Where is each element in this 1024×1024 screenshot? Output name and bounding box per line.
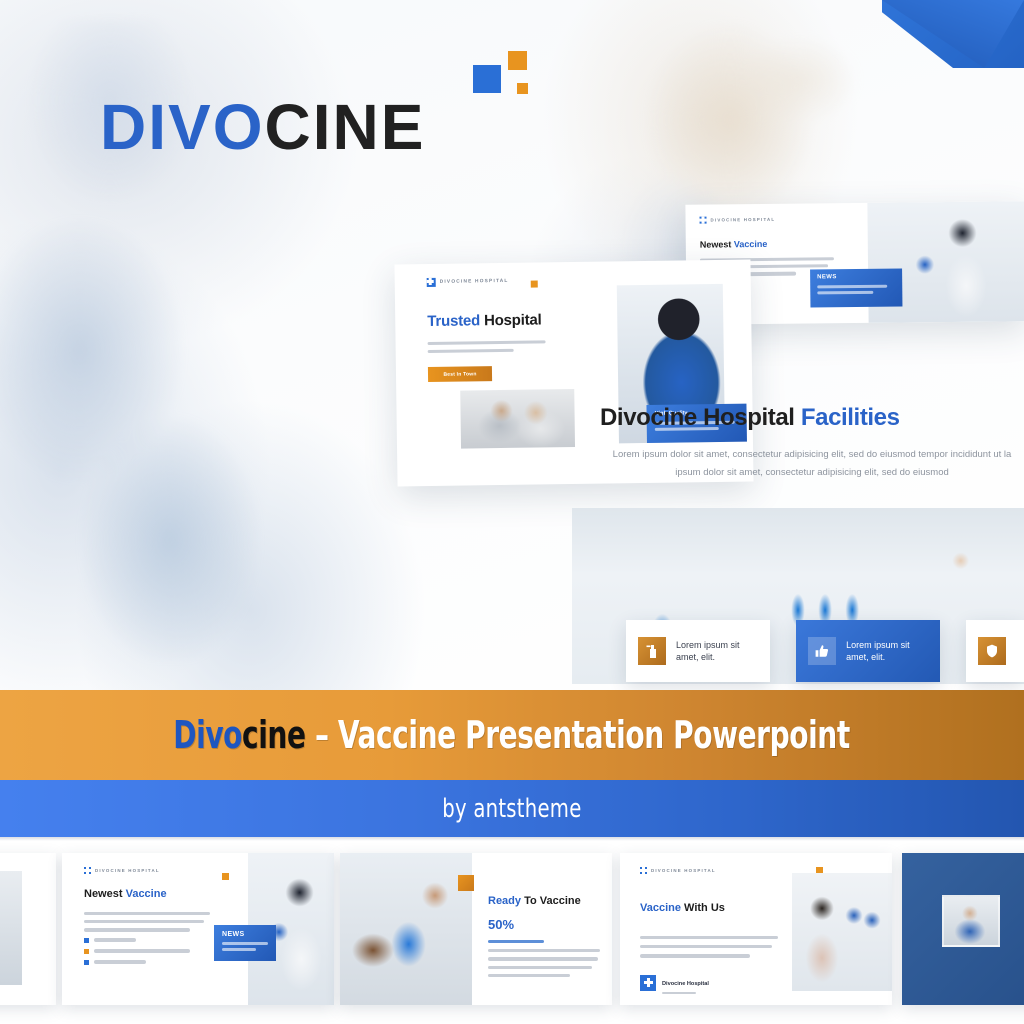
plus-icon-blue	[473, 65, 501, 93]
facilities-section: Divocine Hospital Facilities Lorem ipsum…	[600, 404, 1024, 482]
thumb-body-lines	[488, 940, 604, 977]
plus-icon	[84, 867, 91, 874]
facilities-card-text: Lorem ipsum sit amet, elit.	[846, 639, 928, 663]
thumb-bullet	[84, 938, 214, 943]
slide-brandline: DIVOCINE HOSPITAL	[700, 215, 850, 224]
logo-plus-group	[463, 51, 553, 105]
author-banner: by antstheme	[0, 780, 1024, 837]
logo-text-blue: DIVO	[100, 91, 264, 163]
plus-icon	[640, 975, 656, 991]
overlay-title: NEWS	[817, 274, 895, 281]
slide-brandline: DIVOCINE HOSPITAL	[427, 276, 607, 288]
title-banner: Divocine – Vaccine Presentation Powerpoi…	[0, 690, 1024, 780]
facilities-card[interactable]: Lorem ipsum sit amet, elit.	[626, 620, 770, 682]
facilities-card-list: Lorem ipsum sit amet, elit. Lorem ipsum …	[572, 620, 1024, 684]
spray-bottle-icon	[638, 637, 666, 665]
thumb-brandline: DIVOCINE HOSPITAL	[84, 867, 214, 874]
banner-title: Divocine – Vaccine Presentation Powerpoi…	[174, 713, 851, 757]
plus-icon	[427, 278, 436, 287]
cta-button[interactable]: Best In Town	[428, 367, 492, 383]
thumbs-up-icon	[808, 637, 836, 665]
slide-overlay-news: NEWS	[810, 269, 902, 308]
thumbnail-blue-cover[interactable]	[902, 853, 1024, 1005]
logo-text-dark: CINE	[264, 91, 425, 163]
thumbnail-vaccine-with-us[interactable]: DIVOCINE HOSPITAL Vaccine With Us Divoci…	[620, 853, 892, 1005]
slide-title: Newest Vaccine	[700, 238, 850, 250]
brandline-text: DIVOCINE HOSPITAL	[440, 279, 509, 285]
thumb-brandline: DIVOCINE HOSPITAL	[640, 867, 786, 874]
slide-photo-patient	[460, 389, 575, 449]
plus-icon-orange	[508, 51, 527, 70]
facilities-paragraph: Lorem ipsum dolor sit amet, consectetur …	[600, 446, 1024, 482]
square-icon-orange	[458, 875, 474, 891]
thumb-body-lines	[84, 912, 214, 932]
thumbnail-partial-left[interactable]	[0, 853, 56, 1005]
thumb-body-lines	[640, 936, 786, 958]
plus-icon-orange-small	[517, 83, 528, 94]
slide-body-lines	[428, 340, 546, 353]
facilities-title: Divocine Hospital Facilities	[600, 404, 1024, 432]
thumb-title: Vaccine With Us	[640, 902, 786, 914]
slide-title: Trusted Hospital	[427, 311, 607, 331]
thumbnail-strip: DIVOCINE HOSPITAL Newest Vaccine	[0, 837, 1024, 1024]
thumb-percent: 50%	[488, 917, 604, 932]
strip-shadow	[0, 837, 1024, 841]
thumb-photo	[792, 873, 892, 991]
banner-subtitle: by antstheme	[442, 794, 581, 824]
thumb-bullet	[84, 960, 214, 965]
facilities-card-text: Lorem ipsum sit amet, elit.	[676, 639, 758, 663]
thumb-bullet	[84, 949, 214, 954]
shield-icon	[978, 637, 1006, 665]
square-icon-orange	[531, 280, 538, 287]
thumb-overlay-news: NEWS	[214, 925, 276, 961]
thumb-badge: Divocine Hospital	[640, 972, 786, 994]
thumb-photo	[942, 895, 1000, 947]
thumbnail-ready-to-vaccine[interactable]: Ready To Vaccine 50%	[340, 853, 612, 1005]
plus-icon	[640, 867, 647, 874]
facilities-card[interactable]	[966, 620, 1024, 682]
thumb-title: Ready To Vaccine	[488, 895, 604, 907]
brand-logo: DIVOCINE	[100, 95, 425, 159]
plus-icon	[700, 217, 707, 224]
facilities-card[interactable]: Lorem ipsum sit amet, elit.	[796, 620, 940, 682]
poster: DIVOCINE DIVOCINE HOSPITAL Newest Vaccin…	[0, 0, 1024, 1024]
square-icon-orange	[222, 873, 229, 880]
thumb-photo	[340, 853, 472, 1005]
thumb-title: Newest Vaccine	[84, 888, 214, 900]
thumb-photo	[0, 871, 22, 985]
brandline-text: DIVOCINE HOSPITAL	[711, 217, 776, 223]
badge-title: Divocine Hospital	[662, 981, 709, 987]
thumbnail-newest-vaccine[interactable]: DIVOCINE HOSPITAL Newest Vaccine	[62, 853, 334, 1005]
